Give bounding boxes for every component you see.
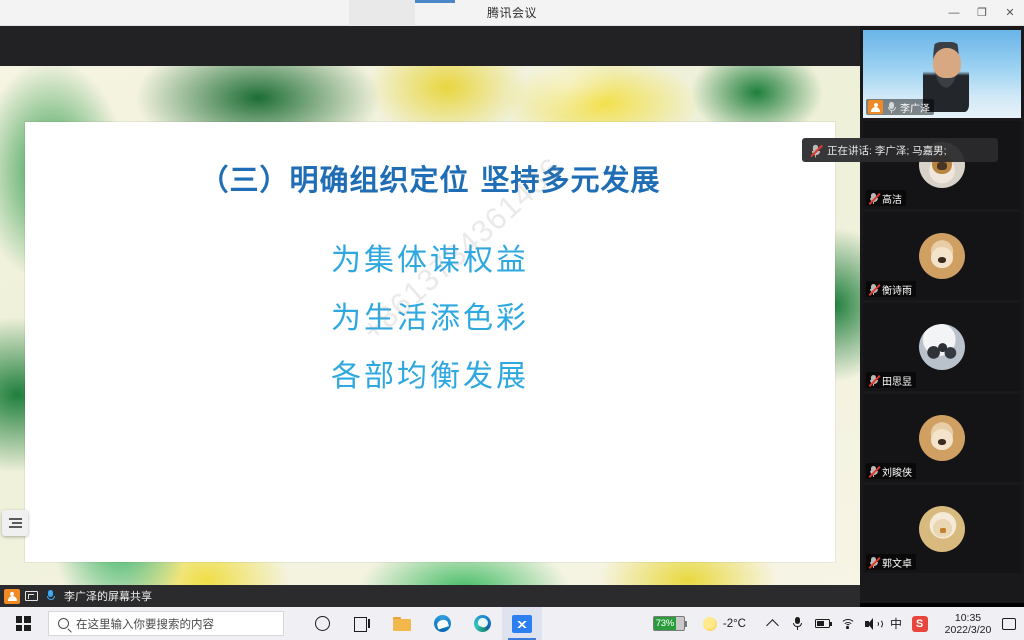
chevron-up-icon[interactable] [760,607,785,640]
mic-icon [886,101,897,114]
participant-name: 李广泽 [900,100,930,115]
clock-time: 10:35 [955,612,981,624]
slide-body: 为集体谋权益 为生活添色彩 各部均衡发展 [25,232,835,406]
screen-share-bar: 李广泽的屏幕共享 [0,585,860,607]
slide-line: 各部均衡发展 [25,348,835,406]
screen-share-icon[interactable] [24,589,39,604]
slide-line: 为集体谋权益 [25,232,835,290]
participant-label: 郭文卓 [866,554,916,570]
battery-percent-badge[interactable]: 73% [653,616,685,631]
taskbar-apps [302,607,542,640]
participant-name: 衡诗雨 [882,282,912,297]
search-icon [58,618,69,629]
inactive-tab[interactable] [349,0,415,26]
shared-screen-stage: （三）明确组织定位 坚持多元发展 为集体谋权益 为生活添色彩 各部均衡发展 +8… [0,26,860,585]
participant-tile[interactable]: 刘睃侠 [863,394,1021,482]
maximize-button[interactable]: ❐ [968,0,996,26]
participant-tile[interactable]: 高洁 [863,121,1021,209]
temperature-label: -2°C [723,618,746,630]
clock-date: 2022/3/20 [945,624,992,636]
participant-panel: 李广泽高洁衡诗雨田思昱刘睃侠郭文卓 [860,26,1024,603]
participant-label: 田思昱 [866,372,916,388]
avatar [919,324,965,370]
title-bar: 腾讯会议 — ❐ ✕ [0,0,1024,26]
mic-muted-icon [810,143,822,157]
participant-name: 田思昱 [882,373,912,388]
participant-label: 高洁 [866,190,906,206]
system-tray: 73% -2°C 中 S 10:35 [653,607,1024,640]
participant-tile[interactable]: 李广泽 [863,30,1021,118]
window-title: 腾讯会议 [487,4,537,21]
tencent-meeting-window: 腾讯会议 — ❐ ✕ （三）明确组织定位 坚持多元发展 为集体谋权益 为生活添色… [0,0,1024,640]
participant-label: 衡诗雨 [866,281,916,297]
tencent-meeting-icon[interactable] [502,607,542,640]
host-badge-icon [868,100,883,114]
slide-title: （三）明确组织定位 坚持多元发展 [25,157,835,199]
wifi-icon[interactable] [835,607,860,640]
mic-muted-icon [868,374,879,387]
participant-label: 刘睃侠 [866,463,916,479]
mic-muted-icon [868,465,879,478]
participant-name: 郭文卓 [882,555,912,570]
participant-name: 高洁 [882,191,902,206]
weather-widget[interactable]: -2°C [703,617,746,631]
mic-muted-icon [868,556,879,569]
slide-line: 为生活添色彩 [25,290,835,348]
screen-share-label: 李广泽的屏幕共享 [64,588,152,604]
taskbar-clock[interactable]: 10:35 2022/3/20 [940,612,996,636]
edge-legacy-icon[interactable] [422,607,462,640]
battery-percent-label: 73% [654,617,676,630]
sun-icon [703,617,717,631]
battery-icon[interactable] [810,607,835,640]
mic-muted-icon [868,192,879,205]
search-input[interactable]: 在这里输入你要搜索的内容 [48,611,284,636]
host-badge-icon [4,589,20,604]
participant-tile[interactable]: 田思昱 [863,303,1021,391]
shared-screen-content: （三）明确组织定位 坚持多元发展 为集体谋权益 为生活添色彩 各部均衡发展 +8… [0,66,860,585]
participant-tile[interactable]: 郭文卓 [863,485,1021,573]
participant-label: 李广泽 [866,99,934,115]
presentation-slide: （三）明确组织定位 坚持多元发展 为集体谋权益 为生活添色彩 各部均衡发展 +8… [25,122,835,562]
file-explorer-icon[interactable] [382,607,422,640]
edge-icon[interactable] [462,607,502,640]
avatar [919,506,965,552]
avatar [919,233,965,279]
cortana-icon[interactable] [302,607,342,640]
notification-icon[interactable] [1002,618,1016,630]
windows-start-icon[interactable] [0,607,46,640]
window-controls: — ❐ ✕ [940,0,1024,26]
panel-list-icon[interactable] [2,510,28,536]
sogou-input-icon[interactable]: S [907,607,932,640]
participant-name: 刘睃侠 [882,464,912,479]
close-button[interactable]: ✕ [996,0,1024,26]
mic-icon[interactable] [43,589,58,604]
ime-indicator[interactable]: 中 [885,615,907,632]
minimize-button[interactable]: — [940,0,968,26]
mic-muted-icon [868,283,879,296]
sogou-glyph: S [912,616,928,632]
mic-icon[interactable] [785,607,810,640]
speaking-toast-text: 正在讲话: 李广泽; 马嘉男; [827,143,947,158]
task-view-icon[interactable] [342,607,382,640]
participant-tile[interactable]: 衡诗雨 [863,212,1021,300]
speaking-toast: 正在讲话: 李广泽; 马嘉男; [802,138,998,162]
search-placeholder: 在这里输入你要搜索的内容 [76,616,214,632]
windows-taskbar: 在这里输入你要搜索的内容 73% -2°C [0,607,1024,640]
active-tab-indicator [415,0,455,3]
volume-icon[interactable] [860,607,885,640]
avatar [919,415,965,461]
